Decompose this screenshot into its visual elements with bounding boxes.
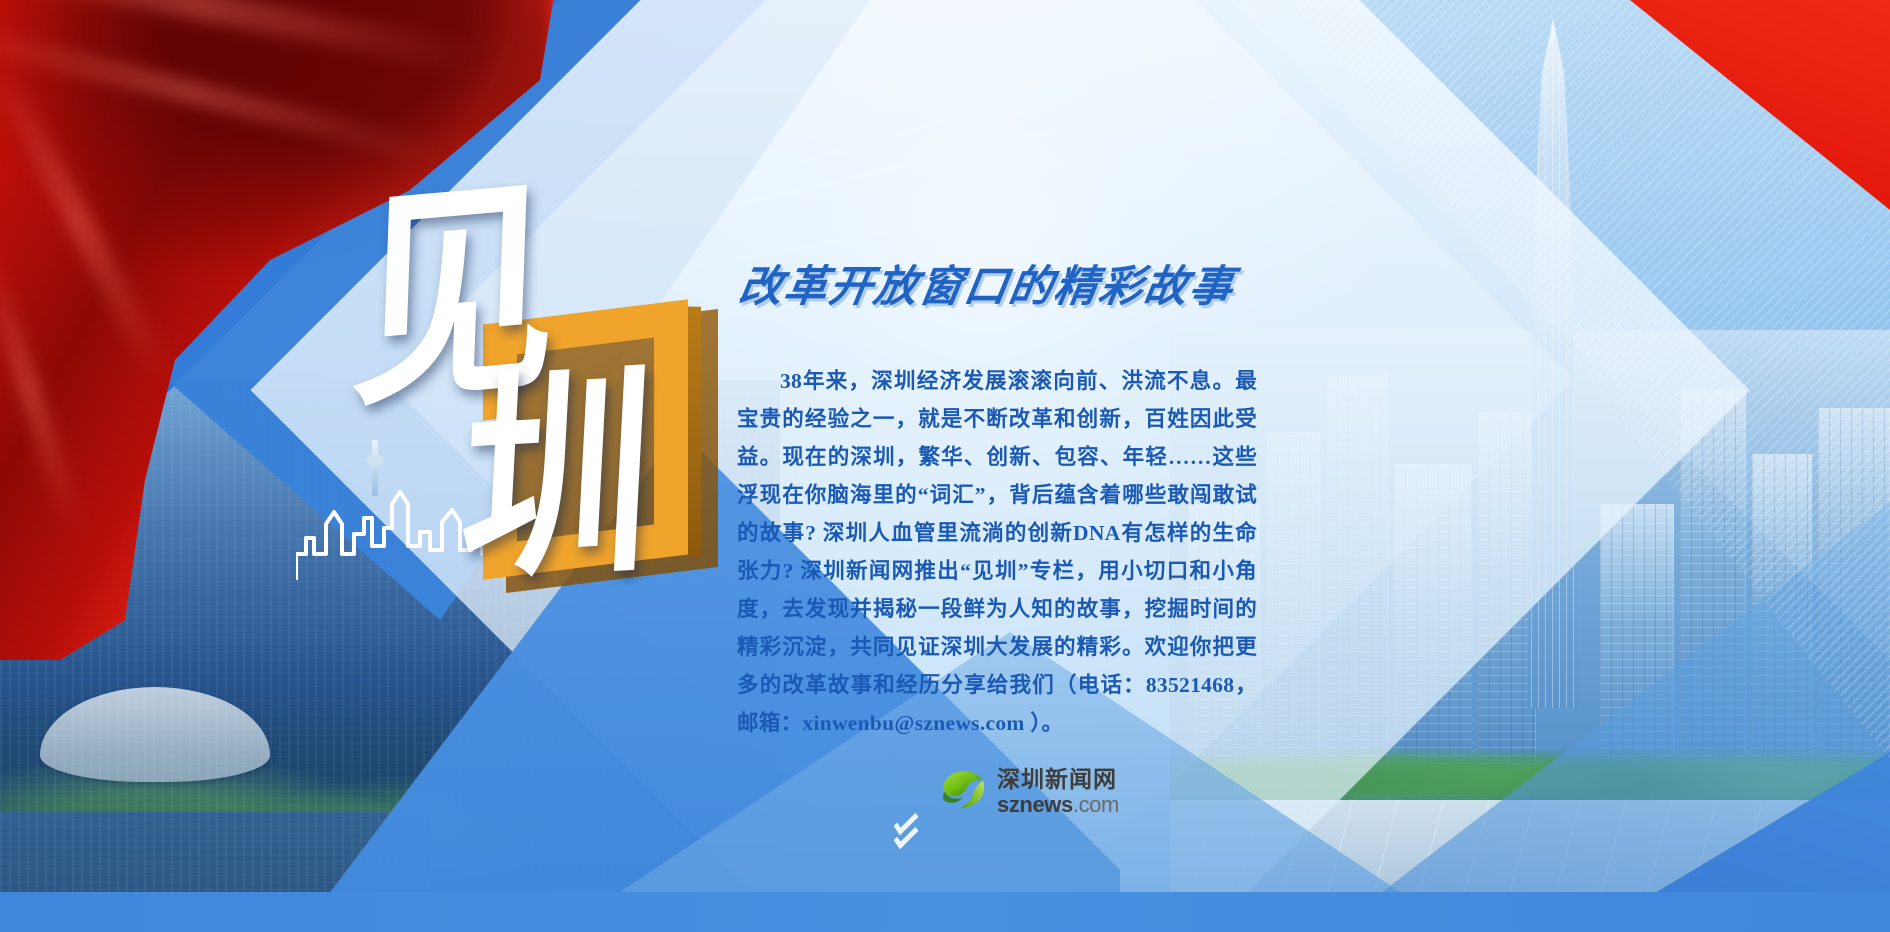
cityscape-right-photo — [1170, 330, 1890, 932]
sznews-jianzhen-banner: 见 圳 改革开放窗口的精彩故事 38年来，深圳经济发展滚滚向前、洪流不息。最宝贵… — [0, 0, 1890, 932]
tv-tower — [372, 440, 378, 496]
sznews-logo[interactable]: 深圳新闻网 sznews.com — [940, 768, 1119, 816]
civic-plaza-pavement — [1170, 800, 1890, 932]
stadium-roof — [40, 687, 270, 782]
silk-fold — [0, 58, 176, 388]
double-chevron-down-icon[interactable] — [889, 816, 919, 841]
greenbelt-foliage — [0, 682, 700, 932]
calligraphy-zhen: 圳 — [456, 363, 658, 598]
intro-paragraph: 38年来，深圳经济发展滚滚向前、洪流不息。最宝贵的经验之一，就是不断改革和创新，… — [737, 362, 1257, 742]
silk-fold — [0, 0, 478, 73]
silk-fold — [0, 245, 87, 537]
logo-cn-name: 深圳新闻网 — [997, 768, 1119, 791]
logo-en-name: sznews.com — [997, 794, 1119, 816]
page-title: 改革开放窗口的精彩故事 — [735, 252, 1240, 314]
silk-fold — [0, 17, 445, 166]
green-leaf-icon — [940, 769, 986, 815]
bay-water — [0, 812, 430, 932]
